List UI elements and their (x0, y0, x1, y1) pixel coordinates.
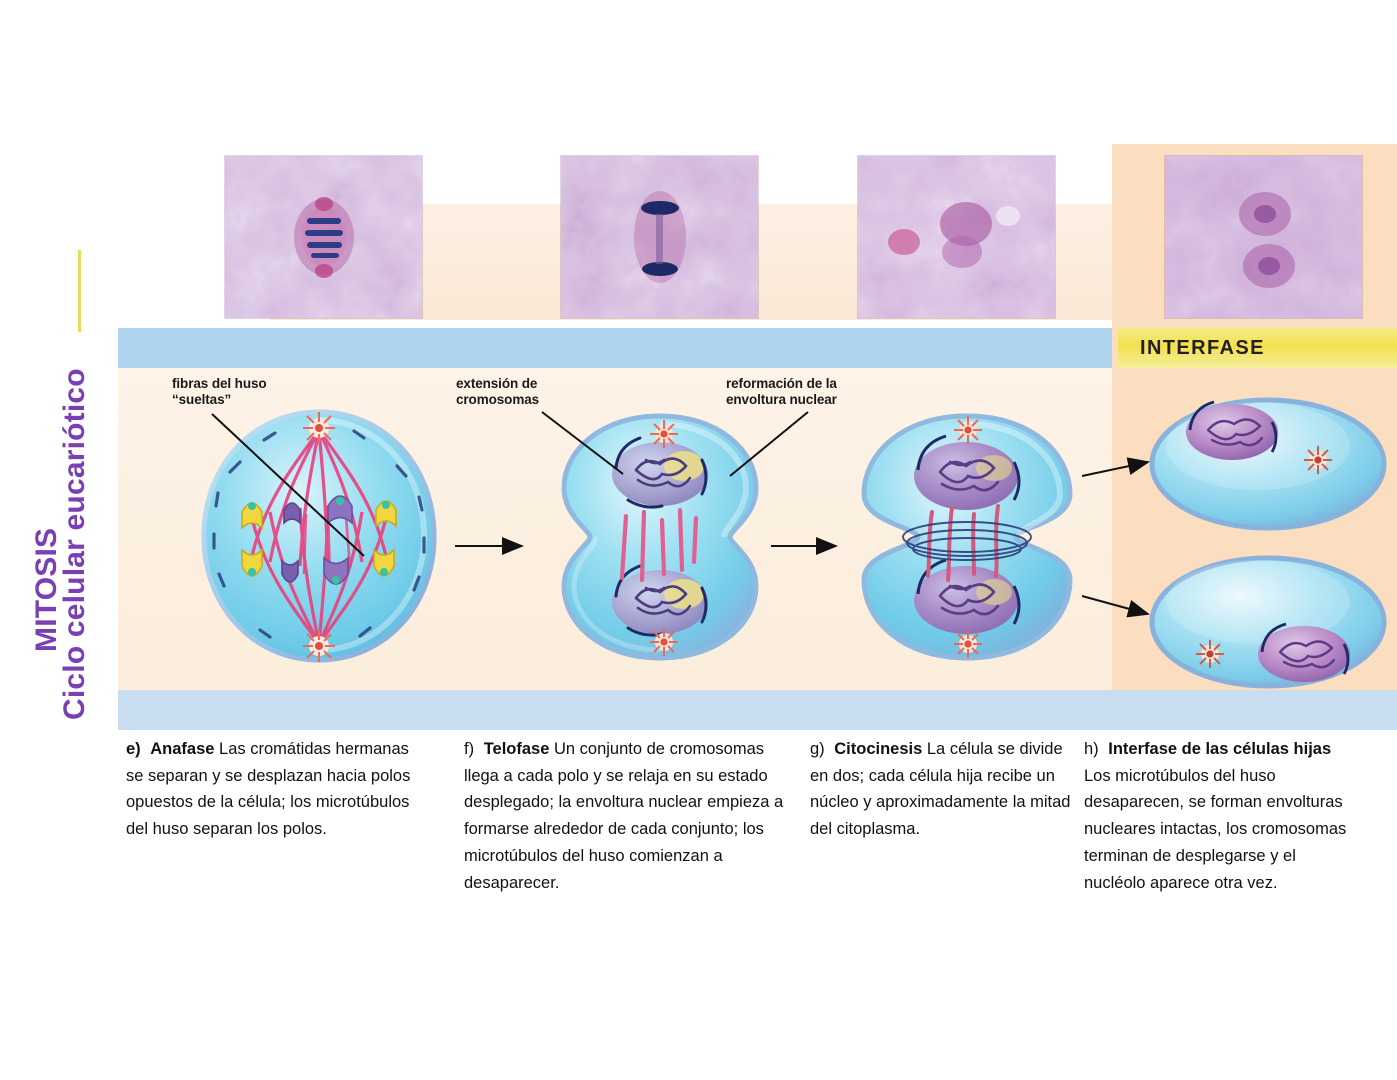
cytokinesis-micrograph (858, 156, 1055, 318)
annotation-chromosome-extension: extensión de cromosomas (456, 376, 539, 409)
caption-interfase-term: Interfase de las células hijas (1108, 740, 1331, 758)
daughter-cell-upper-illustration (1146, 390, 1390, 541)
cytokinesis-cell-illustration (848, 410, 1086, 669)
caption-row: e) Anafase Las cromátidas hermanas se se… (118, 736, 1397, 956)
figure-page: Ciclo celular eucariótico MITOSIS INTERF… (0, 0, 1397, 1080)
caption-anafase-marker: e) (126, 740, 141, 758)
caption-anafase: e) Anafase Las cromátidas hermanas se se… (126, 736, 426, 843)
telophase-cell-illustration (542, 412, 778, 667)
caption-citocinesis-marker: g) (810, 740, 825, 758)
telophase-micrograph (561, 156, 758, 318)
daughter-cell-lower-illustration (1146, 550, 1390, 701)
sidebar-subtitle: MITOSIS (30, 528, 64, 652)
caption-citocinesis-term: Citocinesis (834, 740, 922, 758)
mitosis-figure: INTERFASE (118, 144, 1397, 730)
sidebar-divider (78, 250, 81, 332)
anaphase-cell-illustration (194, 406, 444, 673)
annotation-spindle-fibers: fibras del huso “sueltas” (172, 376, 267, 409)
caption-telofase-marker: f) (464, 740, 474, 758)
anaphase-micrograph (225, 156, 422, 318)
sidebar: Ciclo celular eucariótico MITOSIS (0, 0, 118, 1080)
interphase-banner: INTERFASE (1118, 328, 1397, 368)
annotation-nuclear-envelope: reformación de la envoltura nuclear (726, 376, 837, 409)
caption-citocinesis: g) Citocinesis La célula se divide en do… (810, 736, 1072, 843)
caption-interfase: h) Interfase de las células hijas Los mi… (1084, 736, 1354, 896)
caption-telofase-text: Un conjunto de cromosomas llega a cada p… (464, 740, 783, 892)
caption-telofase-term: Telofase (484, 740, 550, 758)
caption-interfase-text: Los microtúbulos del huso desaparecen, s… (1084, 767, 1346, 892)
interphase-banner-label: INTERFASE (1140, 337, 1265, 360)
caption-interfase-marker: h) (1084, 740, 1099, 758)
interphase-micrograph (1165, 156, 1362, 318)
caption-anafase-term: Anafase (150, 740, 214, 758)
caption-telofase: f) Telofase Un conjunto de cromosomas ll… (464, 736, 784, 896)
